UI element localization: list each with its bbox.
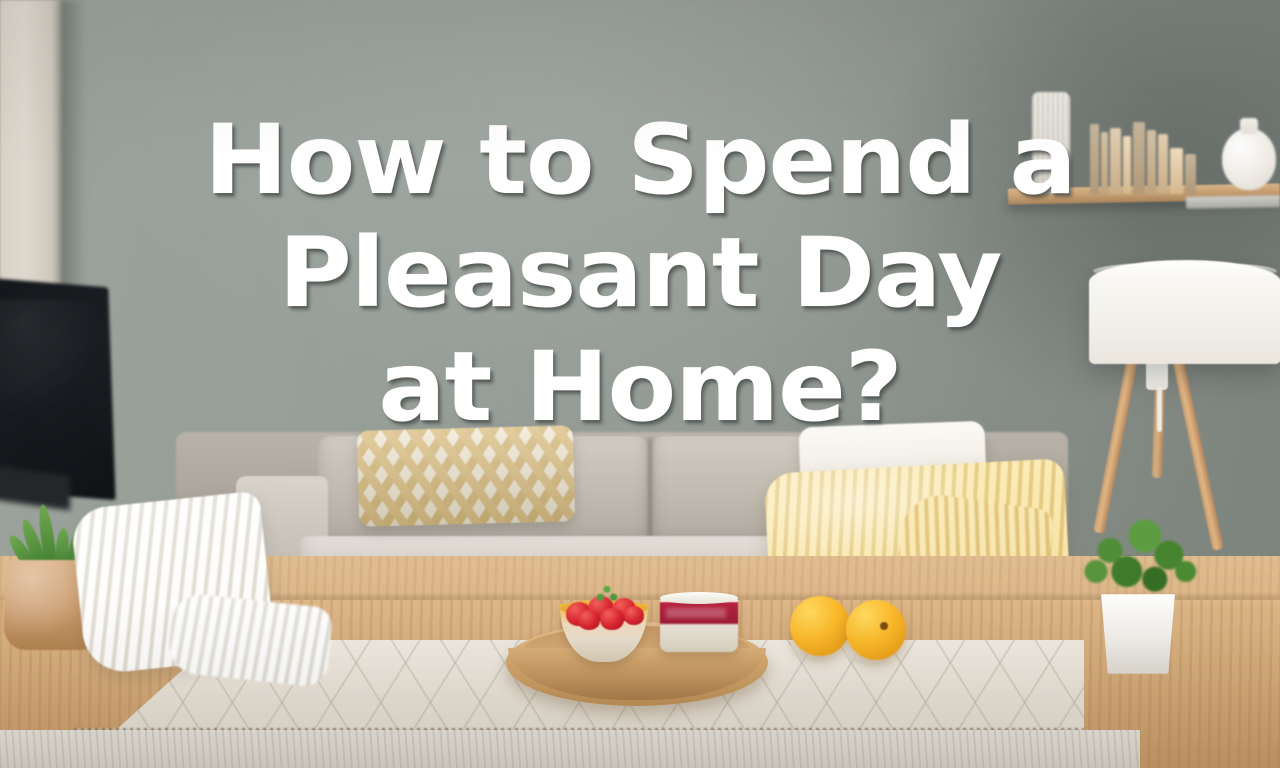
rug-foreground <box>0 730 1140 768</box>
strawberry <box>600 608 624 630</box>
green-plant-pot <box>1096 594 1180 674</box>
lamp-pull-cord <box>1157 386 1162 432</box>
ribbed-vase <box>1032 92 1070 194</box>
orange-stem <box>880 622 888 630</box>
strawberry <box>578 610 600 630</box>
tv-screen-glare <box>0 300 100 420</box>
strawberry-leaf <box>596 586 618 602</box>
candle-jar-label <box>666 608 726 618</box>
geometric-pillow <box>357 425 575 527</box>
candle-jar-lid <box>660 592 738 604</box>
orange <box>846 600 906 660</box>
shelf-books <box>1090 122 1196 194</box>
green-plant-foliage <box>1068 512 1208 608</box>
white-knit-throw-fold <box>166 592 333 688</box>
candle-jar <box>660 596 738 652</box>
floating-shelf-secondary <box>1186 195 1280 209</box>
orange <box>790 596 850 656</box>
strawberry <box>624 606 644 625</box>
tripod-lamp-shade <box>1089 260 1280 364</box>
round-vase <box>1222 128 1276 190</box>
image-canvas: How to Spend a Pleasant Day at Home? <box>0 0 1280 768</box>
